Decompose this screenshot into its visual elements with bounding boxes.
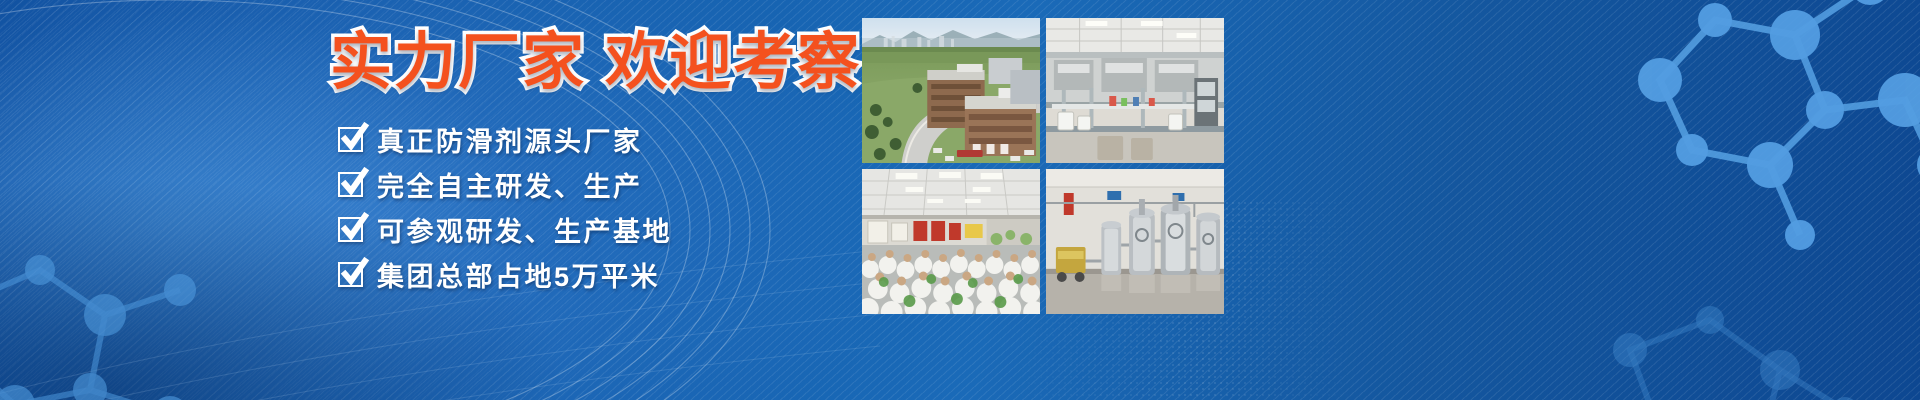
check-mark-icon: [339, 257, 370, 288]
feature-label: 真正防滑剂源头厂家: [377, 120, 643, 159]
molecule-structure-right-icon: [1620, 0, 1920, 260]
feature-label: 集团总部占地5万平米: [377, 255, 660, 294]
banner-headline: 实力厂家 欢迎考察: [330, 24, 850, 102]
photo-grid: [862, 18, 1224, 314]
feature-list: 真正防滑剂源头厂家 完全自主研发、生产 可参观研发、生产基地: [338, 118, 768, 298]
check-mark-icon: [339, 212, 370, 243]
laboratory-interior-photo: [1046, 18, 1224, 163]
promo-banner: 实力厂家 欢迎考察 真正防滑剂源头厂家 完全自主研发、生产: [0, 0, 1920, 400]
feature-item-3: 可参观研发、生产基地: [338, 208, 768, 250]
feature-item-1: 真正防滑剂源头厂家: [338, 118, 768, 160]
headline-container: 实力厂家 欢迎考察: [330, 24, 850, 102]
feature-item-2: 完全自主研发、生产: [338, 163, 768, 205]
checkbox-checked-icon: [338, 172, 363, 197]
check-mark-icon: [339, 167, 370, 198]
employee-assembly-hall-photo: [862, 169, 1040, 314]
feature-item-4: 集团总部占地5万平米: [338, 253, 768, 295]
feature-label: 可参观研发、生产基地: [377, 210, 672, 249]
aerial-factory-campus-photo: [862, 18, 1040, 163]
checkbox-checked-icon: [338, 217, 363, 242]
feature-label: 完全自主研发、生产: [377, 165, 643, 204]
production-equipment-workshop-photo: [1046, 169, 1224, 314]
molecule-structure-left-icon: [0, 230, 240, 400]
check-mark-icon: [339, 122, 370, 153]
checkbox-checked-icon: [338, 127, 363, 152]
checkbox-checked-icon: [338, 262, 363, 287]
molecule-structure-right-low-icon: [1600, 290, 1860, 400]
